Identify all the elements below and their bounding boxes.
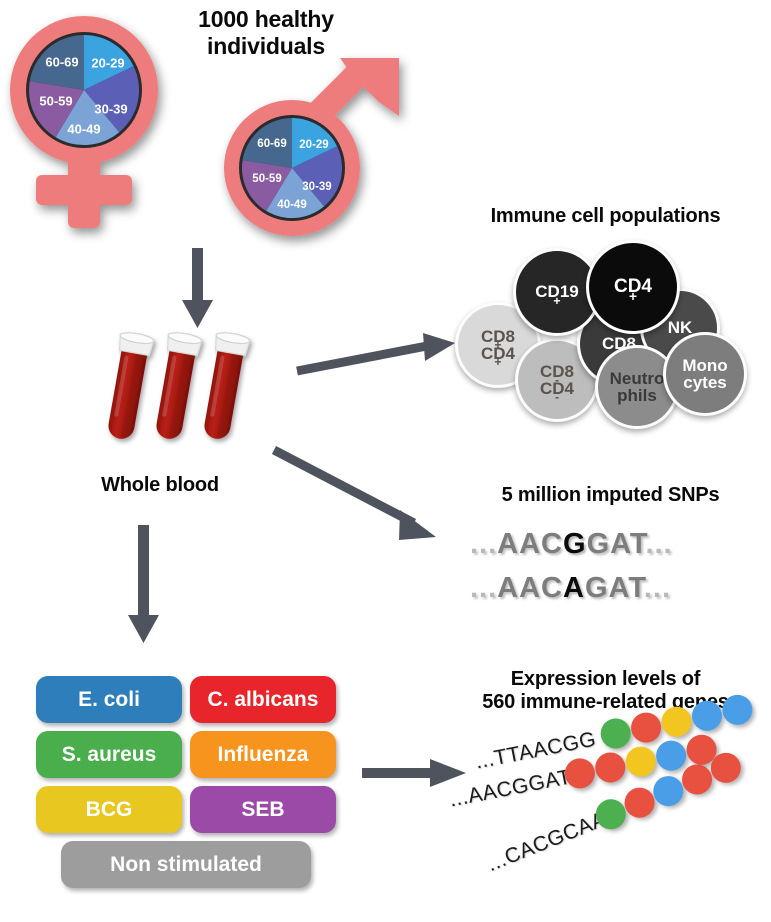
stimulus-e-coli[interactable]: E. coli	[36, 676, 182, 723]
blood-tube	[102, 331, 154, 442]
snp-segment: ...	[470, 528, 497, 560]
immune-cell-label: CD8+	[481, 328, 515, 345]
rna-bead-red	[593, 750, 628, 785]
arrow-blood-to-stimuli	[126, 525, 162, 645]
male-symbol: 20-29 30-39 40-49 50-59 60-69	[207, 50, 407, 250]
pie-label-40-49: 40-49	[277, 199, 306, 211]
pie-label-60-69: 60-69	[45, 54, 78, 69]
rna-strand-group: ...TTAACGG...AACGGAT...CACGCAA	[455, 725, 771, 915]
pie-label-60-69: 60-69	[257, 138, 286, 150]
snp-segment: GAT	[587, 528, 646, 560]
snp-title: 5 million imputed SNPs	[450, 484, 771, 507]
pie-label-50-59: 50-59	[39, 93, 72, 108]
stimuli-grid: E. coliC. albicansS. aureusInfluenzaBCGS…	[36, 676, 336, 833]
male-age-pie: 20-29 30-39 40-49 50-59 60-69	[242, 118, 342, 218]
snp-segment: AAC	[497, 528, 563, 560]
pie-label-30-39: 30-39	[94, 101, 127, 116]
immune-cell-label: cytes	[682, 374, 727, 391]
arrow-blood-to-immune-cells	[295, 333, 460, 383]
snp-segment: ...	[470, 572, 497, 604]
pie-label-50-59: 50-59	[252, 173, 281, 185]
immune-cell-populations-title: Immune cell populations	[440, 205, 771, 228]
immune-cell-label: CD4+	[481, 345, 515, 362]
snp-segment: ...	[645, 528, 672, 560]
immune-cell-label: CD4-	[540, 380, 574, 397]
stimulus-label: BCG	[86, 798, 133, 822]
stimulus-label: C. albicans	[208, 688, 319, 712]
female-age-pie: 20-29 30-39 40-49 50-59 60-69	[29, 35, 139, 145]
immune-cell-label: Neutro	[610, 370, 665, 387]
blood-tube	[198, 331, 250, 442]
expression-title-line-1: Expression levels of	[440, 668, 771, 691]
rna-bead-blue	[654, 738, 689, 773]
stimulus-label: Influenza	[217, 743, 308, 767]
stimulus-label: E. coli	[78, 688, 140, 712]
immune-cell-cd4p[interactable]: CD4+	[586, 240, 680, 334]
immune-cell-label: Mono	[682, 357, 727, 374]
stimuli-panel: E. coliC. albicansS. aureusInfluenzaBCGS…	[36, 676, 336, 888]
stimulus-bcg[interactable]: BCG	[36, 786, 182, 833]
immune-cell-cluster: CD8+CD4+CD19+CD4+CD8-CD4-CD8+NKNeutrophi…	[455, 240, 771, 425]
stimulus-influenza[interactable]: Influenza	[190, 731, 336, 778]
immune-cell-label: phils	[610, 387, 665, 404]
stimulus-seb[interactable]: SEB	[190, 786, 336, 833]
pie-label-30-39: 30-39	[302, 181, 331, 193]
snp-segment: G	[563, 528, 587, 560]
stimulus-non-stimulated[interactable]: Non stimulated	[61, 841, 311, 888]
immune-cell-label: CD19+	[535, 283, 578, 300]
rna-bead-green	[598, 716, 633, 751]
stimulus-label: SEB	[241, 798, 284, 822]
rna-bead-red	[629, 710, 664, 745]
blood-tubes-icon	[95, 330, 265, 470]
stimulus-s-aureus[interactable]: S. aureus	[36, 731, 182, 778]
whole-blood-label: Whole blood	[60, 474, 260, 497]
arrow-cohort-to-blood	[180, 248, 216, 330]
rna-bead-yellow	[623, 744, 658, 779]
immune-cell-label: CD4+	[614, 277, 652, 296]
pie-label-40-49: 40-49	[67, 121, 100, 136]
snp-sequence-group: ...AACGGAT......AACAGAT...	[470, 528, 760, 610]
pie-label-20-29: 20-29	[299, 139, 328, 151]
snp-segment: ...	[644, 572, 671, 604]
stimulus-c-albicans[interactable]: C. albicans	[190, 676, 336, 723]
female-symbol: 20-29 30-39 40-49 50-59 60-69	[8, 10, 198, 240]
snp-segment: AAC	[497, 572, 563, 604]
figure-canvas: 1000 healthy individuals	[0, 0, 771, 922]
stimulus-label: Non stimulated	[110, 853, 262, 877]
blood-tube	[150, 331, 202, 442]
snp-segment: A	[563, 572, 585, 604]
arrow-blood-to-snps	[272, 445, 457, 550]
snp-allele-g: ...AACGGAT...	[470, 528, 673, 561]
immune-cell-monocytes[interactable]: Monocytes	[663, 332, 747, 416]
stimulus-label: S. aureus	[62, 743, 157, 767]
rna-sequence-text: ...CACGCAA	[484, 808, 610, 878]
pie-label-20-29: 20-29	[91, 55, 124, 70]
snp-segment: GAT	[585, 572, 644, 604]
immune-cell-label: CD8-	[540, 363, 574, 380]
snp-allele-a: ...AACAGAT...	[470, 572, 671, 605]
rna-sequence-text: ...AACGGAT	[447, 765, 573, 812]
